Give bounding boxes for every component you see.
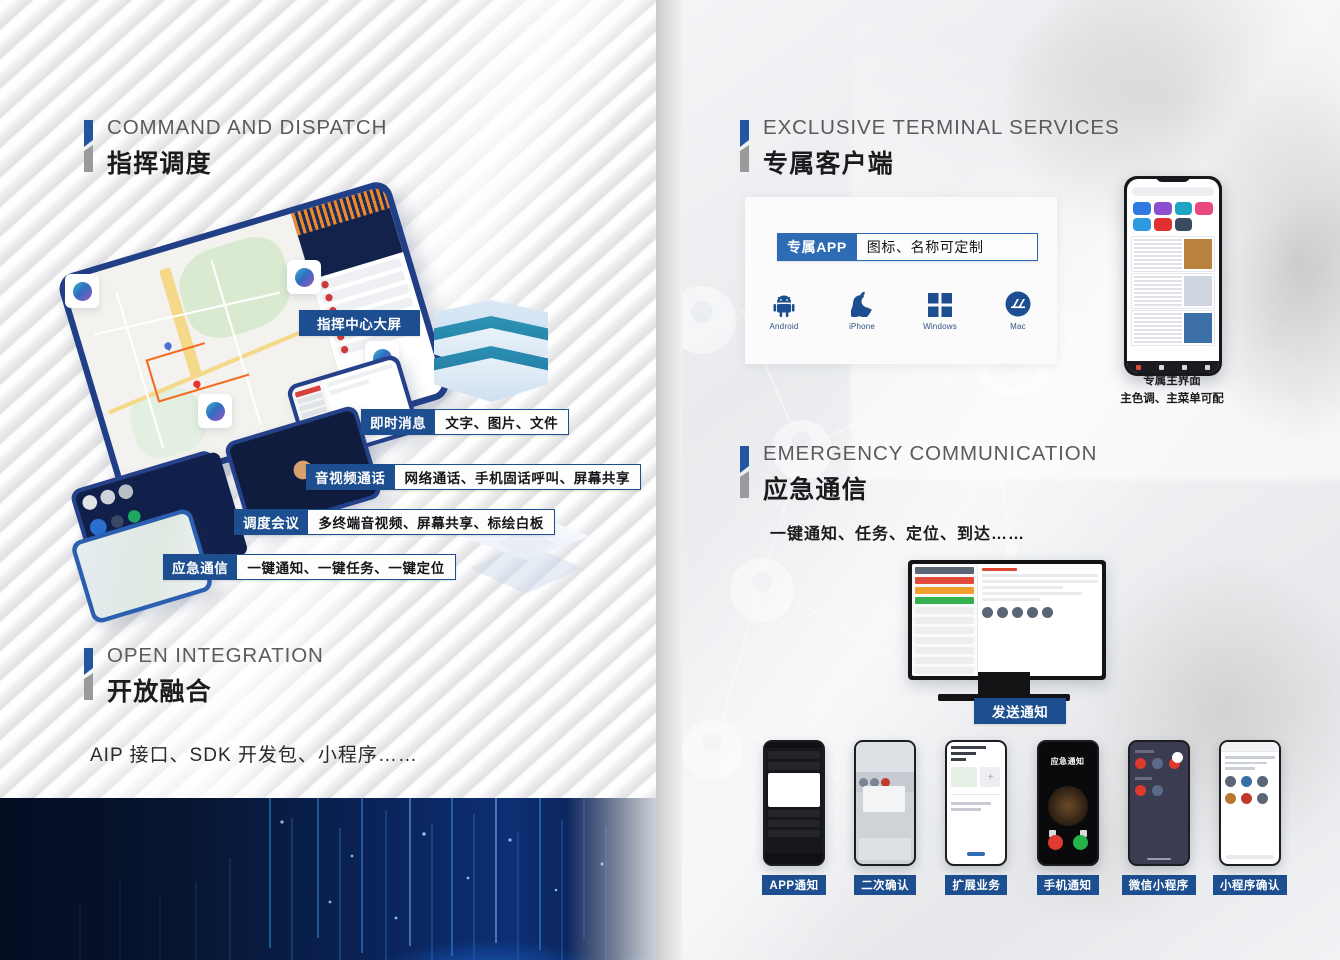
heading-en: OPEN INTEGRATION bbox=[107, 644, 324, 668]
monitor-conversation-list bbox=[912, 564, 978, 676]
appstore-icon bbox=[1005, 283, 1031, 317]
phone-caption-line1: 专属主界面 bbox=[1098, 373, 1246, 391]
phone-frame bbox=[854, 740, 916, 866]
phone-scenario-label: APP通知 bbox=[762, 875, 825, 895]
phone-screen bbox=[765, 742, 823, 864]
phone-screen bbox=[856, 742, 914, 864]
platform-name: Mac bbox=[1010, 322, 1026, 331]
platform-name: Windows bbox=[923, 322, 957, 331]
callout-tag: 即时消息 bbox=[361, 409, 435, 435]
phone-frame bbox=[763, 740, 825, 866]
callout-send-notification: 发送通知 bbox=[974, 698, 1066, 724]
phone-screen bbox=[1221, 742, 1279, 864]
callout-emergency-comm: 应急通信 一键通知、一键任务、一键定位 bbox=[163, 554, 456, 580]
heading-en: COMMAND AND DISPATCH bbox=[107, 116, 387, 140]
platform-android: Android bbox=[745, 283, 823, 331]
phone-scenario-label: 微信小程序 bbox=[1122, 875, 1196, 895]
platform-mac: Mac bbox=[979, 283, 1057, 331]
page-gutter bbox=[656, 0, 682, 960]
phone-screen bbox=[1130, 742, 1188, 864]
monitor-screen bbox=[912, 564, 1102, 676]
phone-screen: + bbox=[947, 742, 1005, 864]
open-integration-text: AIP 接口、SDK 开发包、小程序…… bbox=[90, 740, 418, 767]
callout-value: 图标、名称可定制 bbox=[857, 233, 1038, 261]
callout-tag: 应急通信 bbox=[163, 554, 237, 580]
monitor-avatars bbox=[982, 607, 1098, 618]
phone-news-item bbox=[1131, 273, 1215, 309]
phone-frame: 应急通知 bbox=[1037, 740, 1099, 866]
phone-caption-line2: 主色调、主菜单可配 bbox=[1098, 391, 1246, 409]
callout-value: 文字、图片、文件 bbox=[435, 409, 569, 435]
phone-scenario-label: 二次确认 bbox=[854, 875, 916, 895]
floating-icon-card bbox=[287, 260, 321, 294]
callout-tag: 音视频通话 bbox=[306, 464, 395, 490]
section-heading-emergency-communication: EMERGENCY COMMUNICATION 应急通信 bbox=[740, 442, 1097, 506]
phone-frame: + bbox=[945, 740, 1007, 866]
phone-scenario-label: 扩展业务 bbox=[945, 875, 1007, 895]
phone-news-item bbox=[1131, 310, 1215, 346]
phone-tabbar bbox=[1127, 361, 1219, 373]
heading-cn: 指挥调度 bbox=[107, 144, 387, 180]
callout-exclusive-app: 专属APP 图标、名称可定制 bbox=[777, 233, 1038, 261]
phone-search-bar bbox=[1132, 187, 1214, 196]
heading-en: EXCLUSIVE TERMINAL SERVICES bbox=[763, 116, 1120, 140]
phone-scenario-mobile-notify: 应急通知 手机通知 bbox=[1036, 740, 1100, 895]
callout-value: 多终端音视频、屏幕共享、标绘白板 bbox=[308, 509, 555, 535]
left-page: COMMAND AND DISPATCH 指挥调度 bbox=[0, 0, 656, 960]
callout-command-center: 指挥中心大屏 bbox=[299, 310, 420, 336]
phone-app-grid bbox=[1127, 200, 1219, 235]
emergency-communication-text: 一键通知、任务、定位、到达…… bbox=[770, 520, 1025, 544]
phone-screen: 应急通知 bbox=[1039, 742, 1097, 864]
phone-scenarios-row: APP通知 二次确认 bbox=[762, 740, 1282, 895]
phone-scenario-wechat-miniprogram: 微信小程序 bbox=[1127, 740, 1191, 895]
callout-av-call: 音视频通话 网络通话、手机固话呼叫、屏幕共享 bbox=[306, 464, 641, 490]
floating-icon-card bbox=[65, 274, 99, 308]
phone-caption: 专属主界面 主色调、主菜单可配 bbox=[1098, 373, 1246, 409]
windows-icon bbox=[928, 283, 952, 317]
phone-scenario-second-confirm: 二次确认 bbox=[853, 740, 917, 895]
section-heading-exclusive-terminal: EXCLUSIVE TERMINAL SERVICES 专属客户端 bbox=[740, 116, 1120, 180]
heading-cn: 应急通信 bbox=[763, 470, 1097, 506]
phone-frame bbox=[1219, 740, 1281, 866]
phone-scenario-label: 小程序确认 bbox=[1213, 875, 1287, 895]
accept-call-icon bbox=[1073, 835, 1088, 850]
callout-value: 网络通话、手机固话呼叫、屏幕共享 bbox=[395, 464, 642, 490]
platform-list: Android iPhone Windows bbox=[745, 283, 1057, 331]
monitor-mockup bbox=[908, 560, 1106, 680]
layer-stack-icon bbox=[434, 300, 548, 404]
section-heading-command-dispatch: COMMAND AND DISPATCH 指挥调度 bbox=[84, 116, 387, 180]
tech-decoration-band bbox=[0, 798, 656, 960]
phone-mockup-home bbox=[1124, 176, 1222, 376]
heading-cn: 开放融合 bbox=[107, 672, 324, 708]
heading-accent-bar bbox=[740, 120, 749, 172]
phone-screen bbox=[1127, 179, 1219, 373]
exclusive-app-card: 专属APP 图标、名称可定制 Android bbox=[745, 197, 1057, 364]
heading-accent-bar bbox=[84, 648, 93, 700]
heading-accent-bar bbox=[740, 446, 749, 498]
brochure-page: COMMAND AND DISPATCH 指挥调度 bbox=[0, 0, 1340, 960]
phone-scenario-app-notify: APP通知 bbox=[762, 740, 826, 895]
platform-iphone: iPhone bbox=[823, 283, 901, 331]
callout-tag: 专属APP bbox=[777, 233, 857, 261]
platform-windows: Windows bbox=[901, 283, 979, 331]
phone-scenario-miniprogram-confirm: 小程序确认 bbox=[1218, 740, 1282, 895]
phone-scenario-label: 手机通知 bbox=[1037, 875, 1099, 895]
heading-en: EMERGENCY COMMUNICATION bbox=[763, 442, 1097, 466]
platform-name: Android bbox=[770, 322, 799, 331]
callout-instant-message: 即时消息 文字、图片、文件 bbox=[361, 409, 569, 435]
floating-icon-card bbox=[198, 394, 232, 428]
heading-accent-bar bbox=[84, 120, 93, 172]
heading-cn: 专属客户端 bbox=[763, 144, 1120, 180]
monitor-stand bbox=[978, 672, 1030, 696]
monitor-detail-pane bbox=[978, 564, 1102, 676]
section-heading-open-integration: OPEN INTEGRATION 开放融合 bbox=[84, 644, 324, 708]
apple-icon bbox=[851, 283, 873, 317]
decline-call-icon bbox=[1048, 835, 1063, 850]
callout-dispatch-meeting: 调度会议 多终端音视频、屏幕共享、标绘白板 bbox=[234, 509, 555, 535]
phone-news-item bbox=[1131, 236, 1215, 272]
android-icon bbox=[773, 283, 795, 317]
callout-tag: 发送通知 bbox=[974, 698, 1066, 724]
callout-tag: 调度会议 bbox=[234, 509, 308, 535]
callout-tag: 指挥中心大屏 bbox=[299, 310, 420, 336]
callout-value: 一键通知、一键任务、一键定位 bbox=[237, 554, 455, 580]
call-screen-title: 应急通知 bbox=[1039, 756, 1097, 767]
platform-name: iPhone bbox=[849, 322, 875, 331]
phone-frame bbox=[1128, 740, 1190, 866]
phone-scenario-extended-service: + 扩展业务 bbox=[944, 740, 1008, 895]
